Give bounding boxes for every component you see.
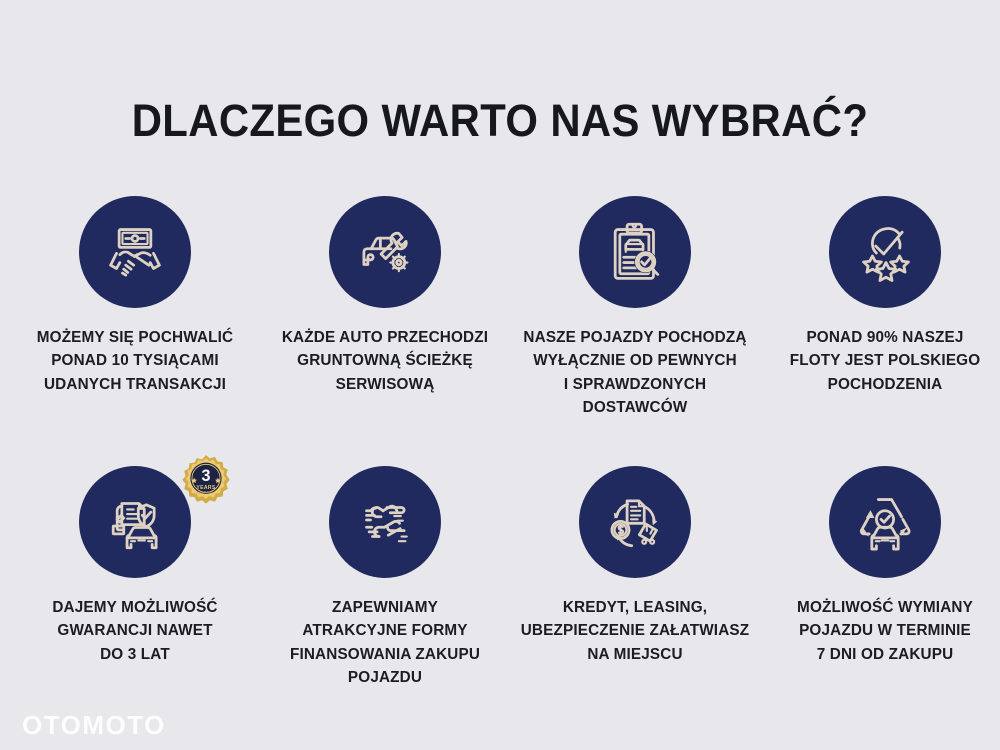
feature-caption: ZAPEWNIAMY ATRAKCYJNE FORMY FINANSOWANIA… [260,596,510,689]
feature-caption: MOŻEMY SIĘ POCHWALIĆ PONAD 10 TYSIĄCAMI … [10,326,260,396]
caption-line: ATRAKCYJNE FORMY [260,619,510,642]
seal-subtext: WARRANTY [197,490,214,494]
page-title: DLACZEGO WARTO NAS WYBRAĆ? [35,98,965,143]
feature-caption: KAŻDE AUTO PRZECHODZI GRUNTOWNĄ ŚCIEŻKĘ … [260,326,510,396]
feature-cell-financing: ZAPEWNIAMY ATRAKCYJNE FORMY FINANSOWANIA… [260,466,510,736]
caption-line: KREDYT, LEASING, [510,596,760,619]
caption-line: POJAZDU [260,666,510,689]
icon-badge: 3 YEARS WARRANTY [79,466,191,578]
seal-unit: YEARS [196,485,216,491]
checkmark-stars-icon [852,219,918,285]
caption-line: POJAZDU W TERMINIE [760,619,1000,642]
icon-circle [329,466,441,578]
caption-line: MOŻEMY SIĘ POCHWALIĆ [10,326,260,349]
caption-line: UBEZPIECZENIE ZAŁATWIASZ [510,619,760,642]
seal-number: 3 [201,467,210,485]
infographic-page: DLACZEGO WARTO NAS WYBRAĆ? [0,0,1000,750]
caption-line: ZAPEWNIAMY [260,596,510,619]
icon-circle [79,466,191,578]
clipboard-car-magnifier-check-icon-circle [579,196,691,308]
caption-line: PONAD 90% NASZEJ [760,326,1000,349]
caption-line: POCHODZENIA [760,373,1000,396]
caption-line: GRUNTOWNĄ ŚCIEŻKĘ [260,349,510,372]
caption-line: KAŻDE AUTO PRZECHODZI [260,326,510,349]
caption-line: FINANSOWANIA ZAKUPU [260,643,510,666]
icon-circle [829,466,941,578]
caption-line: GWARANCJI NAWET [10,619,260,642]
icon-badge [579,196,691,308]
hands-money-exchange-icon [352,489,418,555]
feature-cell-suppliers: NASZE POJAZDY POCHODZĄ WYŁĄCZNIE OD PEWN… [510,196,760,466]
feature-caption: NASZE POJAZDY POCHODZĄ WYŁĄCZNIE OD PEWN… [510,326,760,419]
caption-line: DAJEMY MOŻLIWOŚĆ [10,596,260,619]
caption-line: PONAD 10 TYSIĄCAMI [10,349,260,372]
icon-circle [329,196,441,308]
car-exchange-arrows-check-icon [852,489,918,555]
car-wrench-gear-icon [352,219,418,285]
icon-badge [579,466,691,578]
caption-line: UDANYCH TRANSAKCJI [10,373,260,396]
caption-line: FLOTY JEST POLSKIEGO [760,349,1000,372]
icon-badge [829,196,941,308]
feature-cell-transactions: MOŻEMY SIĘ POCHWALIĆ PONAD 10 TYSIĄCAMI … [10,196,260,466]
caption-line: DO 3 LAT [10,643,260,666]
three-year-warranty-seal-icon: 3 YEARS WARRANTY [179,454,233,508]
icon-circle [829,196,941,308]
feature-cell-credit: KREDYT, LEASING, UBEZPIECZENIE ZAŁATWIAS… [510,466,760,736]
icon-circle [79,196,191,308]
icon-badge [79,196,191,308]
finance-cycle-document-coin-cart-icon [602,489,668,555]
caption-line: I SPRAWDZONYCH DOSTAWCÓW [510,373,760,420]
feature-cell-polish-fleet: PONAD 90% NASZEJ FLOTY JEST POLSKIEGO PO… [760,196,1000,466]
icon-circle [579,466,691,578]
feature-cell-service: KAŻDE AUTO PRZECHODZI GRUNTOWNĄ ŚCIEŻKĘ … [260,196,510,466]
caption-line: MOŻLIWOŚĆ WYMIANY [760,596,1000,619]
caption-line: SERWISOWĄ [260,373,510,396]
caption-line: NA MIEJSCU [510,643,760,666]
feature-caption: KREDYT, LEASING, UBEZPIECZENIE ZAŁATWIAS… [510,596,760,666]
handshake-money-icon [102,219,168,285]
otomoto-logo-watermark: OTOMOTO [22,712,166,738]
feature-caption: MOŻLIWOŚĆ WYMIANY POJAZDU W TERMINIE 7 D… [760,596,1000,666]
features-grid: MOŻEMY SIĘ POCHWALIĆ PONAD 10 TYSIĄCAMI … [10,196,990,736]
hand-document-shield-car-icon [102,489,168,555]
caption-line: WYŁĄCZNIE OD PEWNYCH [510,349,760,372]
icon-badge [329,466,441,578]
feature-cell-exchange: MOŻLIWOŚĆ WYMIANY POJAZDU W TERMINIE 7 D… [760,466,1000,736]
icon-badge [329,196,441,308]
feature-caption: PONAD 90% NASZEJ FLOTY JEST POLSKIEGO PO… [760,326,1000,396]
clipboard-car-magnifier-check-icon [602,219,668,285]
icon-badge [829,466,941,578]
feature-caption: DAJEMY MOŻLIWOŚĆ GWARANCJI NAWET DO 3 LA… [10,596,260,666]
caption-line: 7 DNI OD ZAKUPU [760,643,1000,666]
feature-cell-warranty: 3 YEARS WARRANTY DAJEMY MOŻLIWOŚĆ GWARAN… [10,466,260,736]
caption-line: NASZE POJAZDY POCHODZĄ [510,326,760,349]
